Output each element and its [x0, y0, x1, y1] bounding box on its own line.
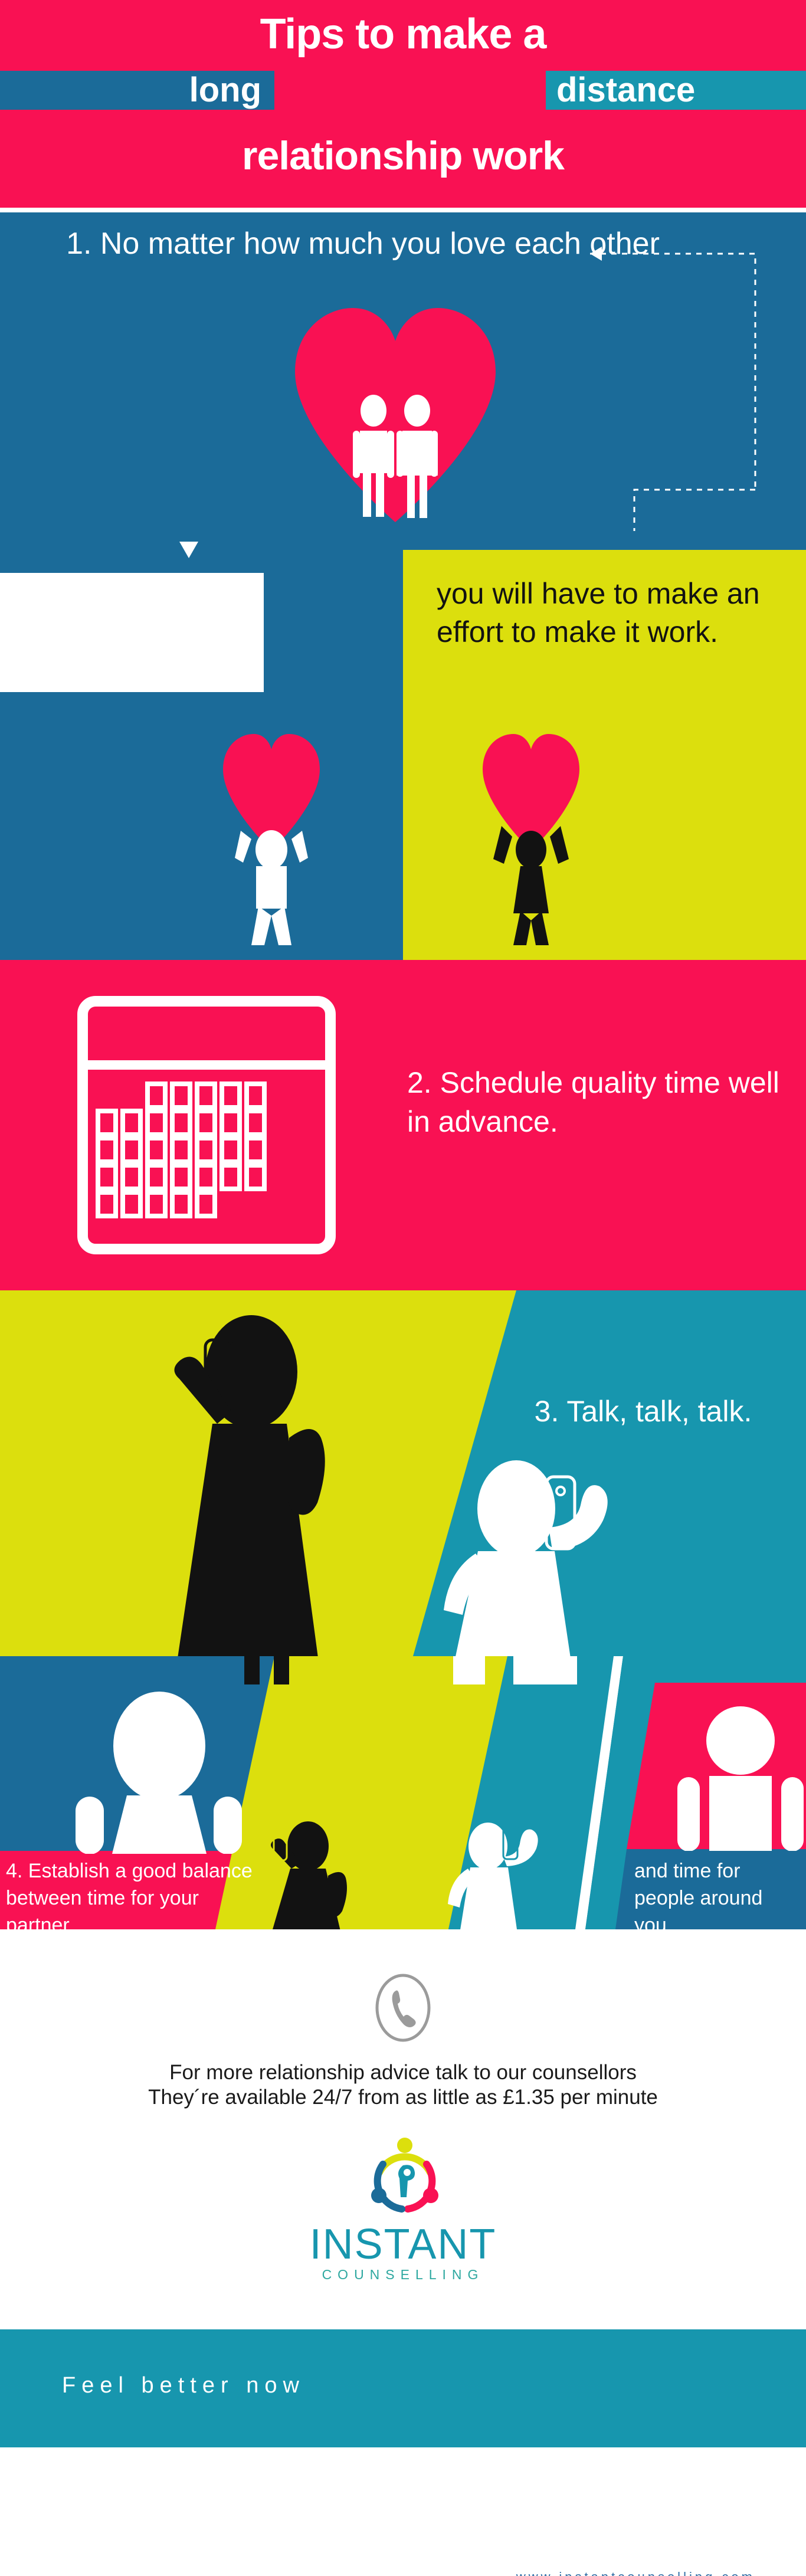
- person-icon-left: [65, 1692, 254, 1854]
- tip-4-text-right: and time for people around you.: [634, 1858, 805, 1929]
- tip-4-text-left: 4. Establish a good balance between time…: [6, 1858, 260, 1929]
- header-word-long: long: [0, 73, 274, 107]
- website-url[interactable]: www.instantcounselling.com: [0, 2570, 806, 2576]
- section-tip-4: 4. Establish a good balance between time…: [0, 1656, 806, 1929]
- man-legs-overflow-icon: [425, 1656, 596, 1684]
- section-tip-3: 3. Talk, talk, talk.: [0, 1290, 806, 1656]
- phone-in-circle-icon: [373, 1973, 433, 2043]
- tip-3-text: 3. Talk, talk, talk.: [490, 1394, 797, 1429]
- footer-advice-line1: For more relationship advice talk to our…: [0, 2059, 806, 2086]
- woman-legs-overflow-icon: [230, 1656, 307, 1684]
- section-tip-1: 1. No matter how much you love each othe…: [0, 212, 806, 550]
- dashed-flow-arrow-icon: [566, 236, 791, 531]
- woman-on-phone-icon: [142, 1308, 389, 1656]
- tip-1-continued-text: you will have to make an effort to make …: [437, 575, 767, 651]
- heart-with-couple-icon: [277, 295, 513, 531]
- header-banner: Tips to make a long distance relationshi…: [0, 0, 806, 208]
- black-person-holding-heart-icon: [454, 721, 608, 945]
- dashed-arrow-head-icon: [177, 542, 201, 559]
- three-arcs-people-logo-icon: [361, 2136, 449, 2224]
- footer: For more relationship advice talk to our…: [0, 1929, 806, 2576]
- logo-subtitle: COUNSELLING: [285, 2268, 521, 2282]
- infographic-page: Tips to make a long distance relationshi…: [0, 0, 806, 2576]
- header-title-line3: relationship work: [0, 136, 806, 176]
- man-on-phone-icon: [437, 1450, 661, 1656]
- tagline-text: Feel better now: [62, 2373, 305, 2398]
- logo-name: INSTANT: [285, 2223, 521, 2266]
- section-4-teal-panel: [0, 1290, 806, 1656]
- header-title-line1: Tips to make a: [0, 13, 806, 55]
- section-2-white-block: [0, 573, 264, 692]
- tip-2-text: 2. Schedule quality time well in advance…: [407, 1063, 785, 1141]
- person-icon-right: [673, 1700, 806, 1851]
- white-person-holding-heart-icon: [195, 721, 348, 945]
- section-tip-1-continued: you will have to make an effort to make …: [0, 550, 806, 960]
- section-tip-2: 2. Schedule quality time well in advance…: [0, 960, 806, 1290]
- small-woman-on-phone-icon: [254, 1821, 360, 1929]
- brand-logo[interactable]: INSTANT COUNSELLING: [285, 2136, 521, 2295]
- footer-advice-line2: They´re available 24/7 from as little as…: [0, 2084, 806, 2111]
- header-word-distance: distance: [546, 73, 806, 107]
- calendar-icon: [77, 995, 336, 1255]
- small-man-on-phone-icon: [445, 1821, 552, 1929]
